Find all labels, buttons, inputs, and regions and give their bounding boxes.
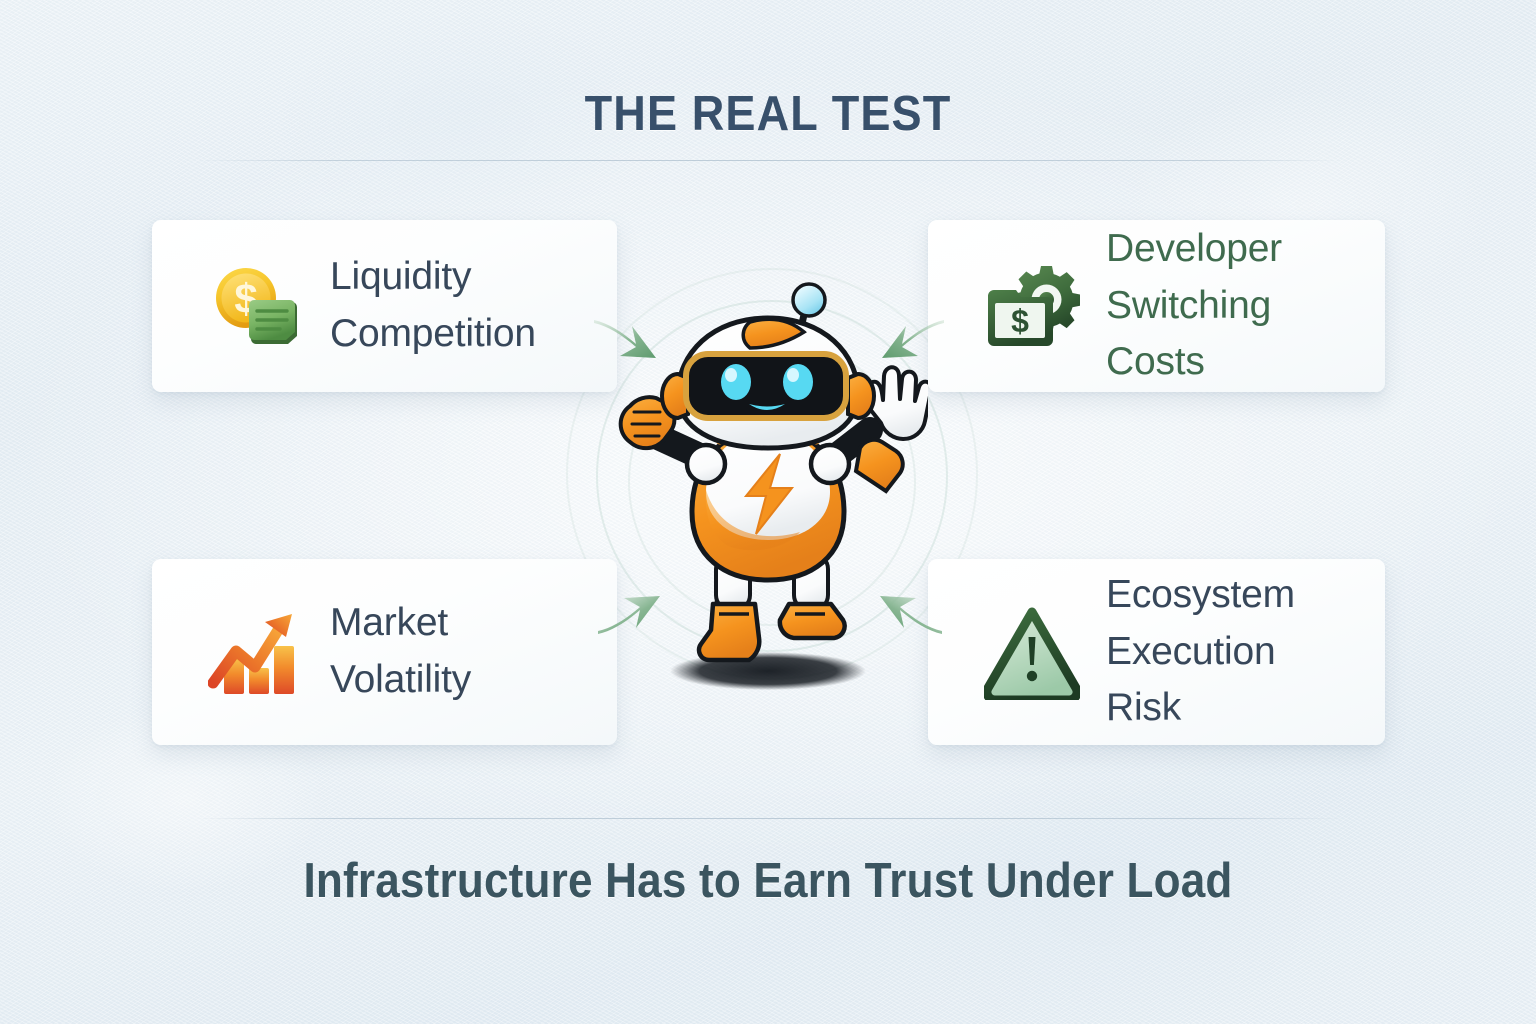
card-label: Ecosystem Execution Risk bbox=[1106, 567, 1359, 738]
card-label: Market Volatility bbox=[330, 595, 471, 709]
card-label: Liquidity Competition bbox=[330, 249, 536, 363]
svg-text:$: $ bbox=[1011, 303, 1029, 339]
card-developer-switching-costs[interactable]: $ Developer Switching Costs bbox=[928, 220, 1385, 392]
card-market-volatility[interactable]: Market Volatility bbox=[152, 559, 617, 745]
divider-top bbox=[196, 160, 1342, 161]
divider-bottom bbox=[196, 818, 1342, 819]
card-label: Developer Switching Costs bbox=[1106, 221, 1359, 392]
footer-caption: Infrastructure Has to Earn Trust Under L… bbox=[77, 853, 1459, 909]
infographic-canvas: THE REAL TEST bbox=[0, 0, 1536, 1024]
page-title: THE REAL TEST bbox=[61, 86, 1474, 142]
robot-mascot bbox=[608, 278, 928, 698]
gear-wallet-dollar-icon: $ bbox=[984, 258, 1080, 354]
rising-bar-chart-arrow-icon bbox=[208, 604, 304, 700]
card-liquidity-competition[interactable]: $ Liquidity Competition bbox=[152, 220, 617, 392]
card-ecosystem-execution-risk[interactable]: Ecosystem Execution Risk bbox=[928, 559, 1385, 745]
coin-dollar-banknote-icon: $ bbox=[208, 258, 304, 354]
warning-triangle-icon bbox=[984, 604, 1080, 700]
